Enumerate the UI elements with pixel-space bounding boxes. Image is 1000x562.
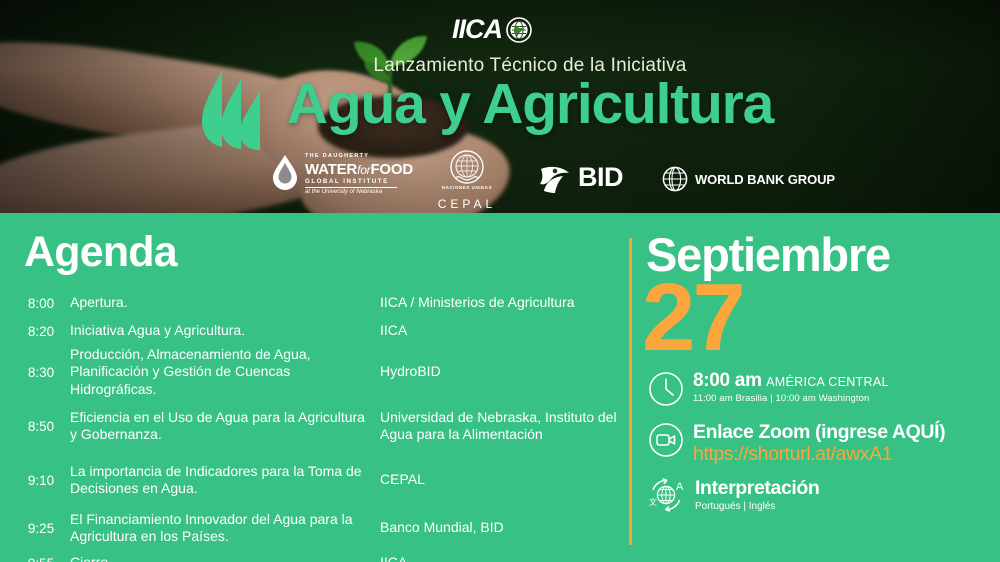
- cepal-un-sub: NACIONES UNIDAS: [432, 185, 502, 190]
- table-row: 9:10 La importancia de Indicadores para …: [12, 453, 622, 507]
- agenda-topic: Apertura.: [70, 289, 380, 317]
- agenda-topic: La importancia de Indicadores para la To…: [70, 453, 380, 507]
- wff-line2: WATERforFOOD: [305, 162, 413, 177]
- agenda-time: 8:50: [12, 399, 70, 453]
- world-bank-globe-icon: [662, 166, 688, 192]
- water-drop-icon: [272, 154, 298, 194]
- agenda-topic: El Financiamiento Innovador del Agua par…: [70, 507, 380, 549]
- header-banner: IICA Lanzamiento Técnico de la Iniciativ…: [0, 0, 1000, 213]
- bid-leaf-icon: [538, 160, 572, 194]
- wff-water: WATER: [305, 161, 357, 178]
- event-poster: IICA Lanzamiento Técnico de la Iniciativ…: [0, 0, 1000, 562]
- wff-line4: at the University of Nebraska: [305, 189, 413, 195]
- table-row: 8:20 Iniciativa Agua y Agricultura. IICA: [12, 317, 622, 345]
- partner-logo-world-bank: WORLD BANK GROUP: [662, 166, 835, 192]
- agenda-time: 8:00: [12, 289, 70, 317]
- agenda-time: 9:25: [12, 507, 70, 549]
- event-day: 27: [642, 270, 743, 366]
- event-time-value: 8:00 am: [693, 370, 762, 391]
- partner-logo-water-for-food: THE DAUGHERTY WATERforFOOD GLOBAL INSTIT…: [272, 154, 413, 195]
- svg-text:A: A: [676, 481, 684, 493]
- agenda-topic: Eficiencia en el Uso de Agua para la Agr…: [70, 399, 380, 453]
- table-row: 9:25 El Financiamiento Innovador del Agu…: [12, 507, 622, 549]
- video-camera-icon: [648, 422, 684, 463]
- zoom-link-row[interactable]: Enlace Zoom (ingrese AQUÍ) https://short…: [648, 421, 945, 466]
- partner-logo-cepal: NACIONES UNIDAS CEPAL: [432, 150, 502, 211]
- globe-icon: [506, 17, 532, 43]
- agenda-topic: Iniciativa Agua y Agricultura.: [70, 317, 380, 345]
- wff-for: for: [357, 163, 370, 177]
- table-row: 8:50 Eficiencia en el Uso de Agua para l…: [12, 399, 622, 453]
- agenda-heading: Agenda: [24, 228, 177, 277]
- agenda-org: IICA: [380, 549, 622, 562]
- column-divider: [629, 238, 632, 545]
- wff-food: FOOD: [370, 161, 413, 178]
- bid-wordmark: BID: [578, 162, 623, 193]
- partner-logo-bid: BID: [538, 160, 623, 194]
- water-leaf-icon: [196, 69, 274, 151]
- zoom-label: Enlace Zoom (ingrese AQUÍ): [693, 421, 945, 444]
- wff-line3: GLOBAL INSTITUTE: [305, 179, 413, 185]
- wff-line1: THE DAUGHERTY: [305, 154, 413, 160]
- translate-globe-icon: 文 A: [648, 478, 686, 517]
- table-row: 8:00 Apertura. IICA / Ministerios de Agr…: [12, 289, 622, 317]
- agenda-time: 8:20: [12, 317, 70, 345]
- iica-wordmark: IICA: [452, 14, 502, 45]
- partner-logos: THE DAUGHERTY WATERforFOOD GLOBAL INSTIT…: [0, 148, 1000, 210]
- agenda-topic: Producción, Almacenamiento de Agua, Plan…: [70, 345, 380, 399]
- event-time-line: 8:00 am AMÉRICA CENTRAL: [693, 370, 889, 392]
- interpretation-label: Interpretación: [695, 477, 819, 500]
- event-time-row: 8:00 am AMÉRICA CENTRAL 11:00 am Brasili…: [648, 370, 889, 412]
- svg-text:文: 文: [649, 497, 657, 507]
- content-panel: Agenda 8:00 Apertura. IICA / Ministerios…: [0, 213, 1000, 562]
- agenda-time: 8:30: [12, 345, 70, 399]
- title-block: Lanzamiento Técnico de la Iniciativa Agu…: [0, 55, 1000, 135]
- clock-icon: [648, 371, 684, 412]
- agenda-time: 9:55: [12, 549, 70, 562]
- cepal-wordmark: CEPAL: [432, 197, 502, 211]
- agenda-time: 9:10: [12, 453, 70, 507]
- interpretation-row: 文 A Interpretación Portugués | Inglés: [648, 477, 819, 517]
- wff-divider: [305, 187, 397, 188]
- event-time-other-zones: 11:00 am Brasilia | 10:00 am Washington: [693, 393, 889, 404]
- agenda-org: CEPAL: [380, 453, 622, 507]
- iica-logo: IICA: [452, 14, 532, 45]
- event-time-zone: AMÉRICA CENTRAL: [766, 375, 889, 389]
- interpretation-languages: Portugués | Inglés: [695, 501, 819, 512]
- table-row: 8:30 Producción, Almacenamiento de Agua,…: [12, 345, 622, 399]
- agenda-org: Universidad de Nebraska, Instituto del A…: [380, 399, 622, 453]
- agenda-org: IICA: [380, 317, 622, 345]
- agenda-topic: Cierre: [70, 549, 380, 562]
- agenda-table: 8:00 Apertura. IICA / Ministerios de Agr…: [12, 289, 622, 562]
- united-nations-icon: [450, 150, 484, 184]
- table-row: 9:55 Cierre IICA: [12, 549, 622, 562]
- agenda-org: IICA / Ministerios de Agricultura: [380, 289, 622, 317]
- world-bank-wordmark: WORLD BANK GROUP: [695, 172, 835, 187]
- agenda-org: HydroBID: [380, 345, 622, 399]
- agenda-org: Banco Mundial, BID: [380, 507, 622, 549]
- zoom-url-link[interactable]: https://shorturl.at/awxA1: [693, 443, 945, 466]
